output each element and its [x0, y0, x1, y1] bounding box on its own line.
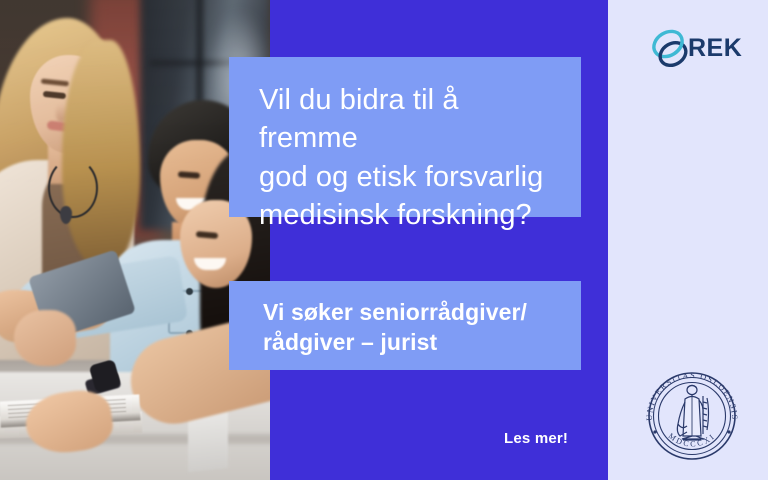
- job-advert-banner: REK UNIVERSITAS OSLOENSIS MDCCCXI: [0, 0, 768, 480]
- subheadline-box: Vi søker seniorrådgiver/ rådgiver – juri…: [229, 281, 581, 370]
- rek-logo: REK: [648, 26, 736, 74]
- headline-text: Vil du bidra til å fremme god og etisk f…: [259, 81, 555, 234]
- uio-seal: UNIVERSITAS OSLOENSIS MDCCCXI: [638, 362, 746, 470]
- read-more-link[interactable]: Les mer!: [504, 430, 568, 447]
- rek-wordmark: REK: [688, 34, 742, 63]
- headline-box: Vil du bidra til å fremme god og etisk f…: [229, 57, 581, 217]
- uio-seal-icon: UNIVERSITAS OSLOENSIS MDCCCXI: [638, 362, 746, 470]
- subheadline-text: Vi søker seniorrådgiver/ rådgiver – juri…: [263, 298, 555, 358]
